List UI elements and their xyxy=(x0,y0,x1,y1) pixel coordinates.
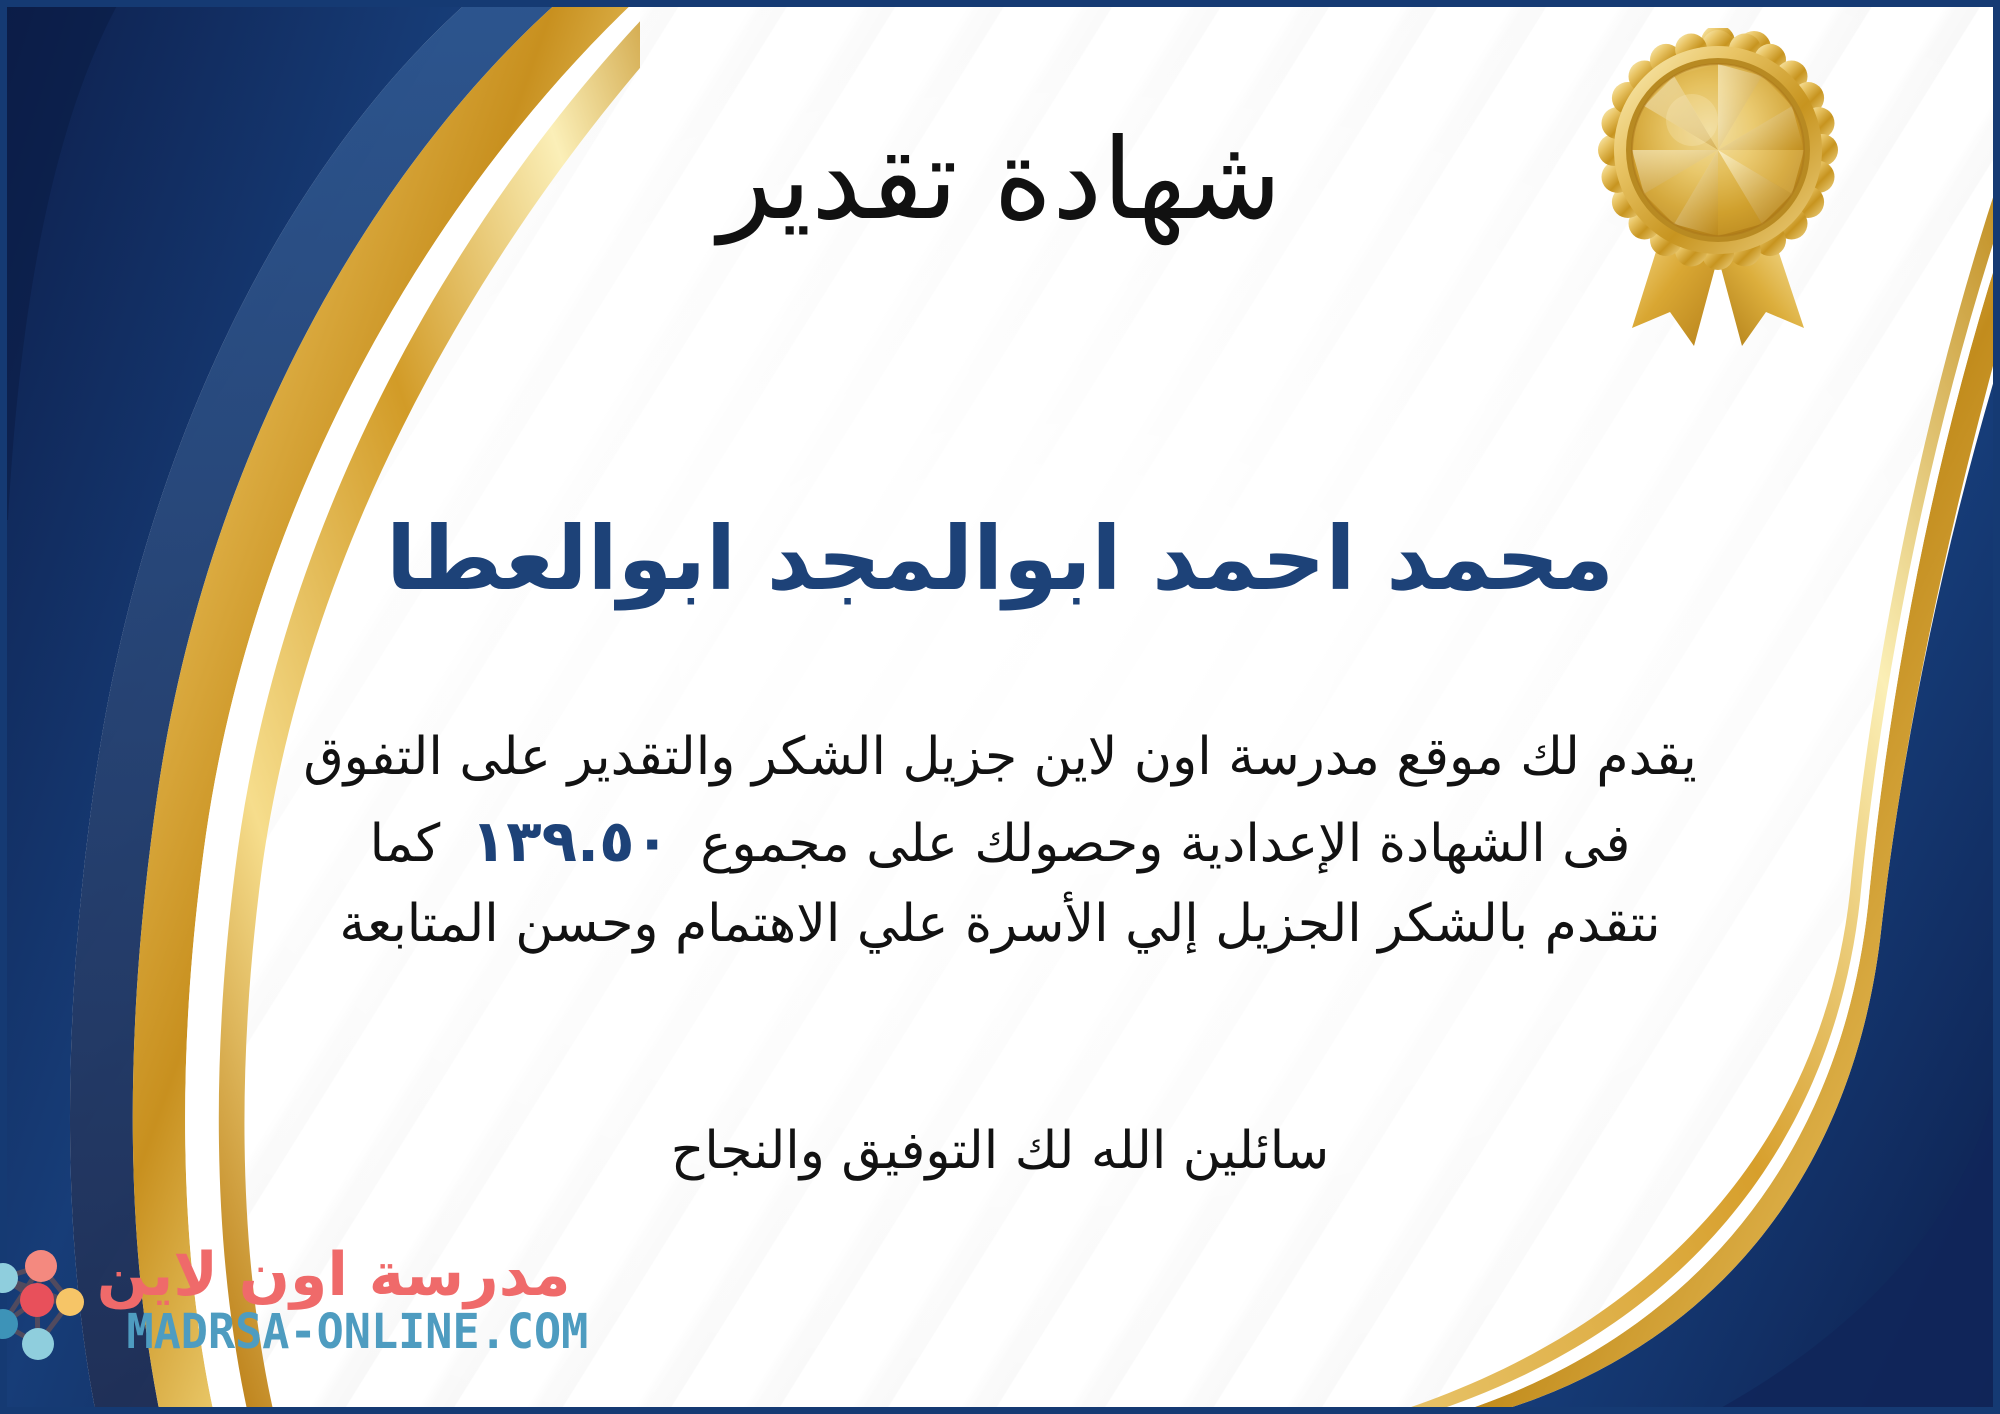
body-line-3: نتقدم بالشكر الجزيل إلي الأسرة علي الاهت… xyxy=(60,885,1940,964)
body-line-2: فى الشهادة الإعدادية وحصولك على مجموع ١٣… xyxy=(60,797,1940,885)
certificate-title: شهادة تقدير xyxy=(0,118,2000,243)
certificate-page: شهادة تقدير محمد احمد ابوالمجد ابوالعطا … xyxy=(0,0,2000,1414)
body-line-2-prefix: فى الشهادة الإعدادية وحصولك على مجموع xyxy=(700,814,1630,874)
body-line-1: يقدم لك موقع مدرسة اون لاين جزيل الشكر و… xyxy=(60,718,1940,797)
logo-website-url: MADRSA-ONLINE.COM xyxy=(126,1307,588,1359)
network-nodes-icon xyxy=(0,1240,93,1362)
certificate-content: شهادة تقدير محمد احمد ابوالمجد ابوالعطا … xyxy=(0,0,2000,1414)
body-line-2-suffix: كما xyxy=(370,814,441,874)
recipient-name: محمد احمد ابوالمجد ابوالعطا xyxy=(0,508,2000,609)
logo-text: مدرسة اون لاين MADRSA-ONLINE.COM xyxy=(97,1244,588,1359)
site-logo[interactable]: مدرسة اون لاين MADRSA-ONLINE.COM xyxy=(28,1226,588,1376)
logo-arabic-name: مدرسة اون لاين xyxy=(97,1244,571,1307)
closing-wish: سائلين الله لك التوفيق والنجاح xyxy=(0,1115,2000,1188)
certificate-body: يقدم لك موقع مدرسة اون لاين جزيل الشكر و… xyxy=(60,718,1940,964)
grade-total-value: ١٣٩.٥٠ xyxy=(457,807,684,875)
